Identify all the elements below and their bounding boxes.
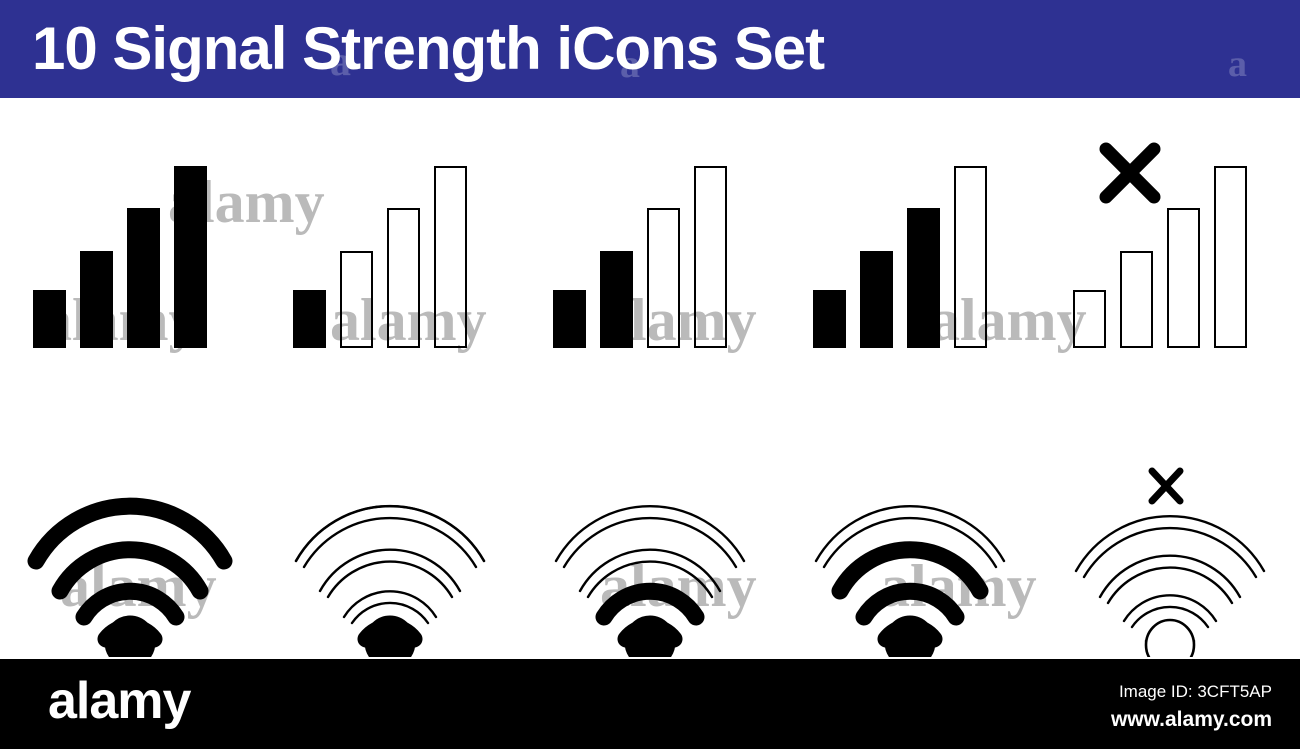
icon-cell[interactable] [0,140,260,370]
icon-cell[interactable] [520,440,780,665]
signal-bar-3 [127,208,160,348]
x-mark-icon [1152,471,1180,501]
icon-cell[interactable] [780,140,1040,370]
wifi-0-of-4-no-signal[interactable] [1062,457,1278,657]
signal-bar-3 [1167,208,1200,348]
icon-cell[interactable] [0,440,260,665]
page-title: 10 Signal Strength iCons Set [32,19,824,79]
icon-cell[interactable] [260,440,520,665]
bars-2-of-4[interactable] [553,148,748,348]
wifi-icon [1062,457,1278,657]
alamy-footer-bar: alamy Image ID: 3CFT5AP www.alamy.com [0,659,1300,749]
wifi-dot [106,617,154,657]
wifi-dot [886,617,934,657]
icon-cell[interactable] [1040,440,1300,665]
signal-bar-1 [553,290,586,348]
wifi-dot [626,617,674,657]
wifi-dot [366,617,414,657]
title-banner: 10 Signal Strength iCons Set a a a [0,0,1300,98]
signal-bar-3 [647,208,680,348]
icon-cell[interactable] [1040,140,1300,370]
signal-bar-3 [387,208,420,348]
icon-cell[interactable] [520,140,780,370]
signal-bar-2 [1120,251,1153,348]
bar-signal-strength-row [0,140,1300,370]
bars-4-of-4[interactable] [33,148,228,348]
signal-bar-1 [813,290,846,348]
signal-bar-2 [600,251,633,348]
signal-bar-1 [1073,290,1106,348]
image-id-label: Image ID: 3CFT5AP [1111,679,1272,705]
wifi-icon [802,457,1018,657]
icon-cell[interactable] [260,140,520,370]
poster-canvas: 10 Signal Strength iCons Set a a a [0,0,1300,749]
wifi-2-of-4[interactable] [542,457,758,657]
signal-bar-4 [434,166,467,348]
wifi-3-of-4[interactable] [802,457,1018,657]
wifi-1-of-4[interactable] [282,457,498,657]
wifi-icon [542,457,758,657]
footer-meta: Image ID: 3CFT5AP www.alamy.com [1111,679,1272,734]
wifi-dot [1146,620,1194,657]
signal-bar-2 [860,251,893,348]
signal-bar-4 [1214,166,1247,348]
x-mark-icon [1097,140,1163,206]
signal-bar-4 [954,166,987,348]
signal-bar-1 [293,290,326,348]
signal-bar-3 [907,208,940,348]
wifi-signal-strength-row [0,440,1300,665]
wifi-icon [22,457,238,657]
wifi-4-of-4[interactable] [22,457,238,657]
icon-cell[interactable] [780,440,1040,665]
watermark-letter-a: a [1228,42,1247,86]
signal-bar-4 [174,166,207,348]
bars-1-of-4[interactable] [293,148,488,348]
signal-bar-4 [694,166,727,348]
signal-bar-1 [33,290,66,348]
alamy-url[interactable]: www.alamy.com [1111,705,1272,734]
alamy-logo: alamy [48,675,190,727]
bars-0-of-4-no-signal[interactable] [1073,148,1268,348]
signal-bar-2 [80,251,113,348]
wifi-icon [282,457,498,657]
bars-3-of-4[interactable] [813,148,1008,348]
signal-bar-2 [340,251,373,348]
